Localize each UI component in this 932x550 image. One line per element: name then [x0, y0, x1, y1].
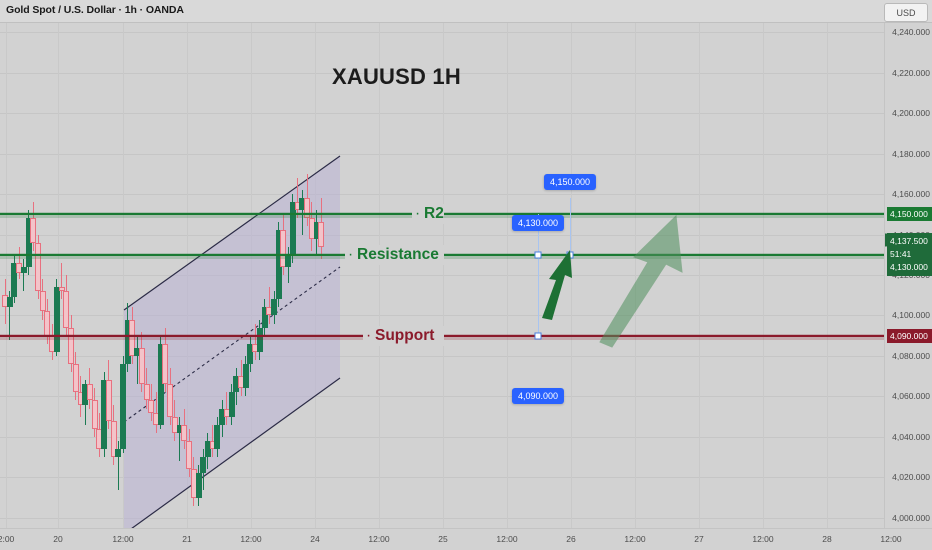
price-tick-label: 4,020.000 [892, 472, 930, 482]
chart-top-bar: Gold Spot / U.S. Dollar · 1h · OANDA USD [0, 0, 932, 23]
measure-price-badge[interactable]: 4,130.000 [512, 215, 564, 231]
level-label-r2[interactable]: R2 [424, 205, 444, 223]
price-axis-chip-support[interactable]: 4,090.000 [887, 329, 932, 343]
gridline-horizontal [0, 194, 884, 195]
price-axis[interactable]: 4,240.0004,220.0004,200.0004,180.0004,16… [884, 22, 932, 528]
bar-countdown: 51:41 [890, 248, 930, 261]
candle-body [92, 400, 98, 428]
candle-body [271, 299, 277, 315]
level-label-dot: · [415, 205, 420, 223]
gridline-vertical [443, 22, 444, 528]
gridline-horizontal [0, 275, 884, 276]
price-tick-label: 4,040.000 [892, 432, 930, 442]
candle-body [120, 364, 126, 449]
reference-price: 4,130.000 [890, 261, 930, 274]
candle-body [148, 400, 154, 412]
price-tick-label: 4,160.000 [892, 189, 930, 199]
level-label-dot: · [366, 327, 371, 345]
candle-wick [137, 336, 138, 385]
candle-body [44, 311, 50, 335]
price-tick-label: 4,240.000 [892, 27, 930, 37]
candle-body [162, 344, 168, 384]
candle-body [54, 287, 60, 352]
candle-body [139, 348, 145, 384]
gridline-vertical [58, 22, 59, 528]
current-price-stack[interactable]: 4,137.50051:414,130.000 [887, 233, 932, 276]
candle-body [196, 473, 202, 497]
candle-body [63, 291, 69, 327]
time-tick-label: 12:00 [624, 534, 645, 544]
time-tick-label: 12:00 [752, 534, 773, 544]
time-tick-label: 12:00 [368, 534, 389, 544]
candle-body [144, 384, 150, 400]
gridline-vertical [251, 22, 252, 528]
candle-body [73, 364, 79, 392]
candle-wick [255, 324, 256, 360]
gridline-horizontal [0, 518, 884, 519]
candle-body [229, 392, 235, 416]
price-tick-label: 4,060.000 [892, 391, 930, 401]
symbol-title: Gold Spot / U.S. Dollar · 1h · OANDA [6, 4, 184, 16]
time-tick-label: 20 [53, 534, 62, 544]
gridline-horizontal [0, 154, 884, 155]
gridline-vertical [763, 22, 764, 528]
measure-anchor-handle[interactable] [535, 332, 542, 339]
measure-price-badge[interactable]: 4,150.000 [544, 174, 596, 190]
time-tick-label: 26 [566, 534, 575, 544]
candle-body [40, 291, 46, 311]
time-tick-label: 12:00 [496, 534, 517, 544]
price-tick-label: 4,100.000 [892, 310, 930, 320]
symbol-axis-tag: XAUUSD [884, 233, 888, 246]
gridline-horizontal [0, 437, 884, 438]
time-tick-label: 28 [822, 534, 831, 544]
small-arrow-icon [542, 250, 572, 320]
time-tick-label: 27 [694, 534, 703, 544]
candle-body [106, 380, 112, 420]
candle-body [7, 297, 13, 307]
level-label-dot: · [348, 246, 353, 264]
candle-body [167, 384, 173, 416]
gridline-vertical [827, 22, 828, 528]
price-tick-label: 4,000.000 [892, 513, 930, 523]
time-tick-label: 2:00 [0, 534, 14, 544]
candle-body [21, 267, 27, 273]
candle-body [30, 218, 36, 242]
gridline-vertical [6, 22, 7, 528]
measure-anchor-handle[interactable] [567, 251, 574, 258]
price-axis-chip-r2[interactable]: 4,150.000 [887, 207, 932, 221]
candle-body [186, 441, 192, 469]
candle-body [257, 328, 263, 352]
chart-canvas[interactable]: XAUUSD 1H·R2·Resistance·Support4,150.000… [0, 22, 884, 528]
price-tick-label: 4,220.000 [892, 68, 930, 78]
measure-anchor-handle[interactable] [535, 251, 542, 258]
gridline-horizontal [0, 477, 884, 478]
trading-chart-app: Gold Spot / U.S. Dollar · 1h · OANDA USD… [0, 0, 932, 550]
gridline-vertical [379, 22, 380, 528]
candle-body [87, 384, 93, 400]
currency-toggle-button[interactable]: USD [884, 3, 928, 22]
gridline-vertical [571, 22, 572, 528]
price-tick-label: 4,180.000 [892, 149, 930, 159]
candle-body [181, 425, 187, 441]
level-label-support[interactable]: Support [375, 327, 434, 345]
gridline-horizontal [0, 396, 884, 397]
time-tick-label: 24 [310, 534, 319, 544]
candle-wick [61, 263, 62, 299]
candle-body [214, 425, 220, 449]
gridline-vertical [507, 22, 508, 528]
measure-price-badge[interactable]: 4,090.000 [512, 388, 564, 404]
gridline-horizontal [0, 32, 884, 33]
chart-headline: XAUUSD 1H [332, 64, 461, 90]
large-arrow-icon [600, 216, 682, 347]
price-tick-label: 4,200.000 [892, 108, 930, 118]
gridline-horizontal [0, 235, 884, 236]
candle-body [318, 222, 324, 246]
time-tick-label: 21 [182, 534, 191, 544]
candle-body [200, 457, 206, 473]
gridline-vertical [315, 22, 316, 528]
candle-body [115, 449, 121, 457]
candle-body [243, 364, 249, 388]
time-tick-label: 12:00 [240, 534, 261, 544]
measure-vertical-line[interactable] [538, 214, 539, 335]
time-axis[interactable]: 2:002012:002112:002412:002512:002612:002… [0, 528, 932, 550]
time-tick-label: 12:00 [880, 534, 901, 544]
time-tick-label: 12:00 [112, 534, 133, 544]
time-tick-label: 25 [438, 534, 447, 544]
gridline-horizontal [0, 113, 884, 114]
price-tick-label: 4,080.000 [892, 351, 930, 361]
candle-wick [179, 417, 180, 462]
gridline-vertical [635, 22, 636, 528]
gridline-vertical [699, 22, 700, 528]
candle-wick [269, 287, 270, 323]
measure-vertical-line[interactable] [570, 198, 571, 259]
candle-body [35, 243, 41, 292]
level-label-resistance[interactable]: Resistance [357, 246, 439, 264]
last-price: 4,137.500 [890, 235, 930, 248]
candle-wick [23, 259, 24, 291]
